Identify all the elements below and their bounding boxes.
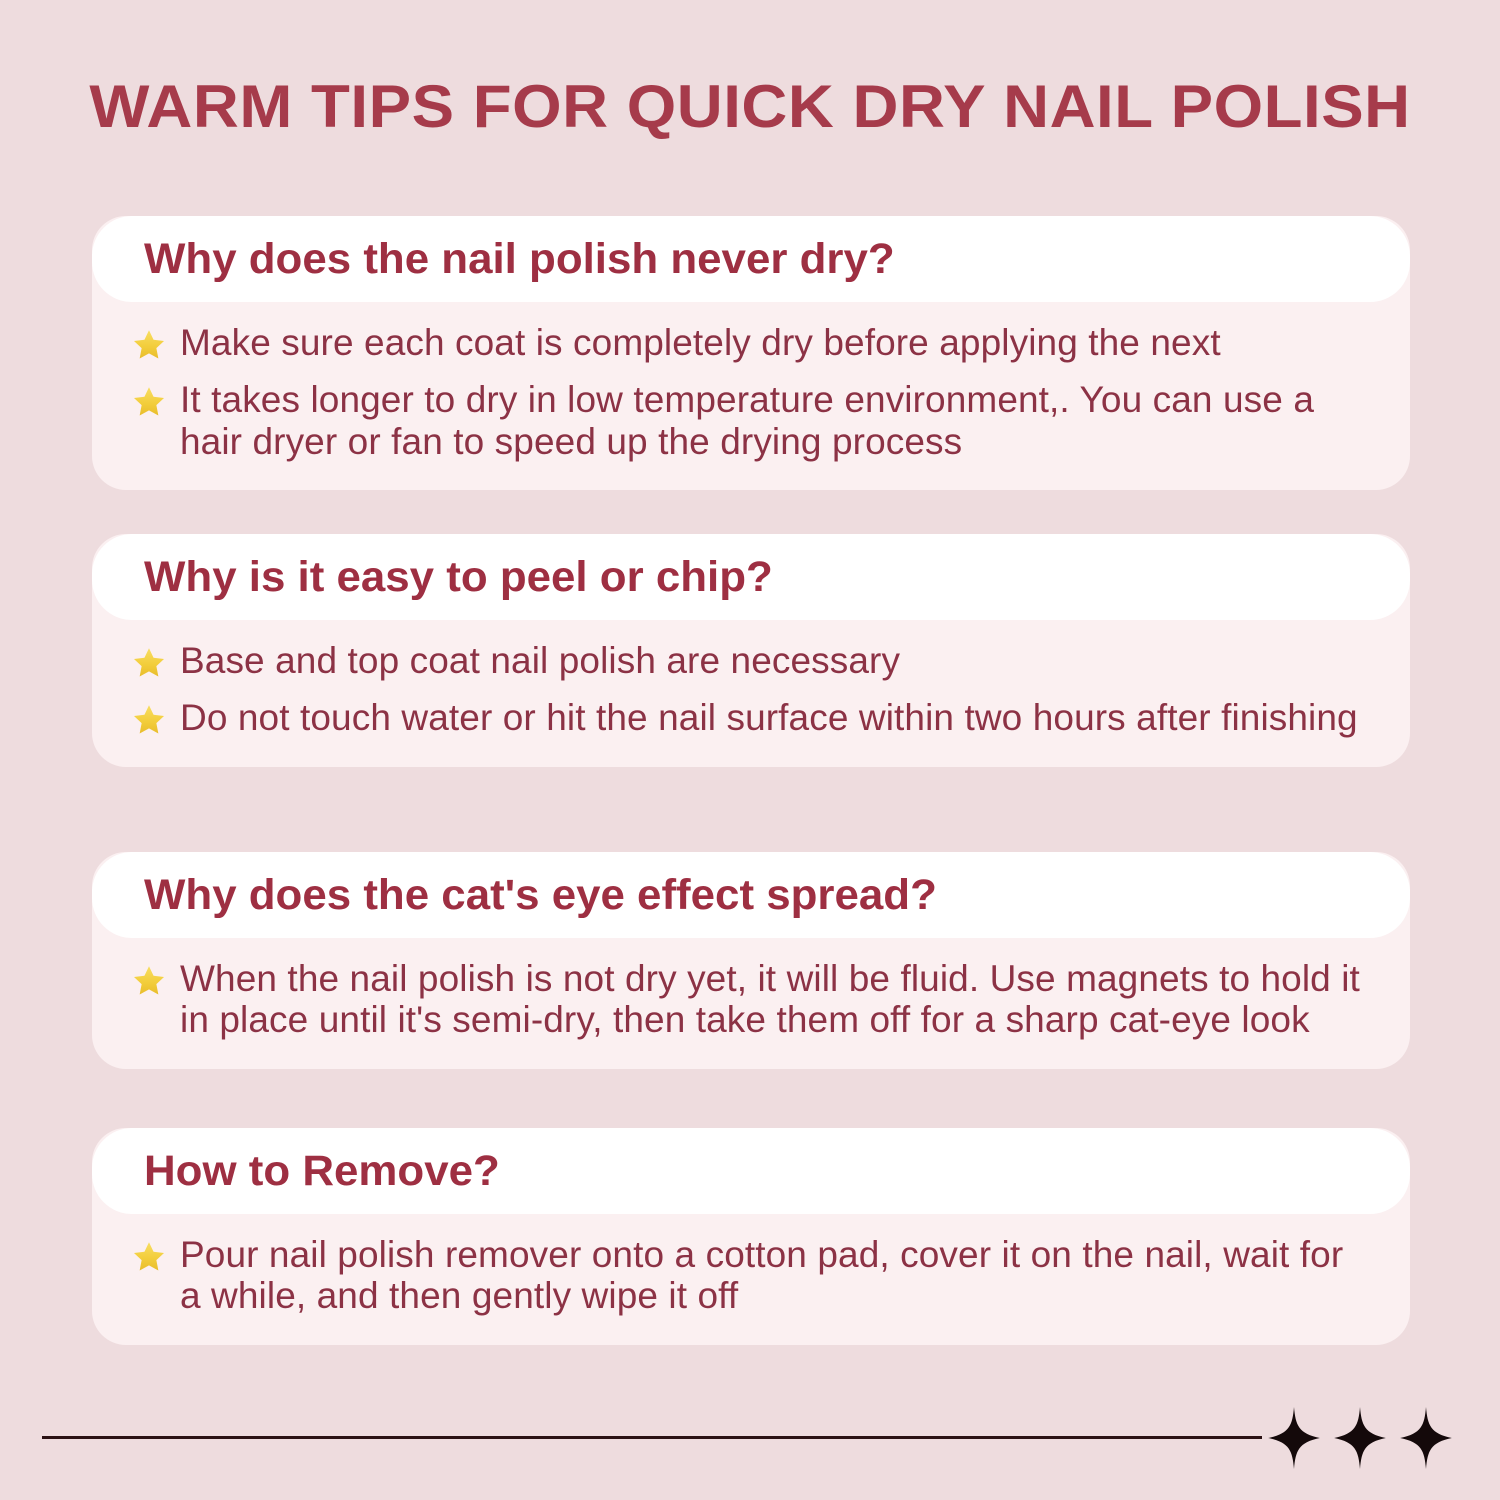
footer-divider <box>42 1436 1262 1439</box>
star-icon <box>132 1240 166 1274</box>
tip-card-3-heading: Why does the cat's eye effect spread? <box>144 871 937 920</box>
list-item: When the nail polish is not dry yet, it … <box>132 958 1364 1041</box>
star-icon <box>132 964 166 998</box>
list-item-text: Pour nail polish remover onto a cotton p… <box>180 1234 1364 1317</box>
star-icon <box>132 328 166 362</box>
list-item-text: Do not touch water or hit the nail surfa… <box>180 697 1358 738</box>
tip-card-4-heading: How to Remove? <box>144 1147 500 1196</box>
list-item: Base and top coat nail polish are necess… <box>132 640 1364 681</box>
tip-card-4-header: How to Remove? <box>92 1128 1410 1214</box>
tip-card-1: Why does the nail polish never dry? Make… <box>92 216 1410 490</box>
tip-card-1-header: Why does the nail polish never dry? <box>92 216 1410 302</box>
page-title: WARM TIPS FOR QUICK DRY NAIL POLISH <box>0 72 1500 141</box>
star-icon <box>132 385 166 419</box>
list-item: It takes longer to dry in low temperatur… <box>132 379 1364 462</box>
list-item-text: Base and top coat nail polish are necess… <box>180 640 900 681</box>
list-item: Make sure each coat is completely dry be… <box>132 322 1364 363</box>
tip-card-2: Why is it easy to peel or chip? Base and… <box>92 534 1410 767</box>
list-item-text: Make sure each coat is completely dry be… <box>180 322 1221 363</box>
tip-card-2-body: Base and top coat nail polish are necess… <box>92 620 1410 767</box>
infographic-page: WARM TIPS FOR QUICK DRY NAIL POLISH Why … <box>0 0 1500 1500</box>
footer-sparkles <box>1268 1400 1468 1476</box>
list-item-text: It takes longer to dry in low temperatur… <box>180 379 1364 462</box>
star-icon <box>132 703 166 737</box>
list-item: Pour nail polish remover onto a cotton p… <box>132 1234 1364 1317</box>
sparkle-icon <box>1268 1407 1320 1469</box>
tip-card-4-body: Pour nail polish remover onto a cotton p… <box>92 1214 1410 1345</box>
tip-card-3-header: Why does the cat's eye effect spread? <box>92 852 1410 938</box>
list-item: Do not touch water or hit the nail surfa… <box>132 697 1364 738</box>
tip-card-3-body: When the nail polish is not dry yet, it … <box>92 938 1410 1069</box>
tip-card-1-heading: Why does the nail polish never dry? <box>144 235 895 284</box>
list-item-text: When the nail polish is not dry yet, it … <box>180 958 1364 1041</box>
tip-card-3: Why does the cat's eye effect spread? Wh… <box>92 852 1410 1069</box>
tip-card-2-heading: Why is it easy to peel or chip? <box>144 553 773 602</box>
tip-card-1-body: Make sure each coat is completely dry be… <box>92 302 1410 490</box>
tip-card-4: How to Remove? Pour nail polish remover … <box>92 1128 1410 1345</box>
star-icon <box>132 646 166 680</box>
sparkle-icon <box>1334 1407 1386 1469</box>
tip-card-2-header: Why is it easy to peel or chip? <box>92 534 1410 620</box>
sparkle-icon <box>1400 1407 1452 1469</box>
